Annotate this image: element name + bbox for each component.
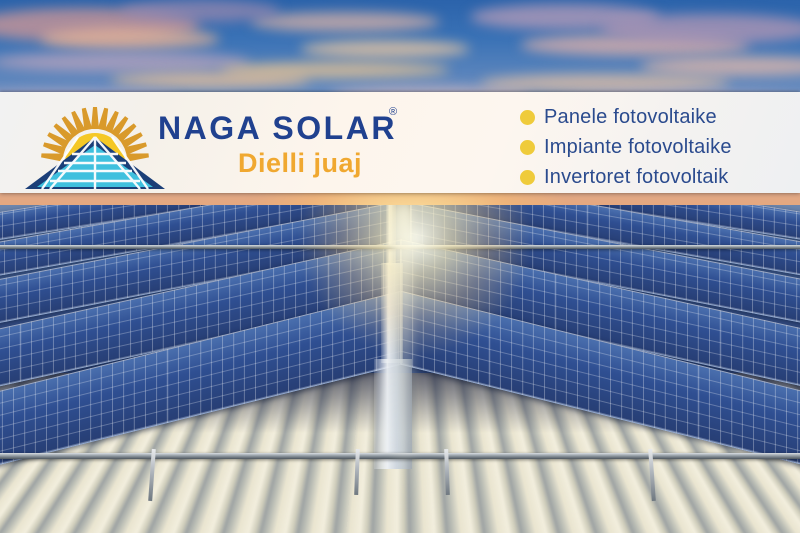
solar-panel-field [0, 205, 800, 533]
service-list: Panele fotovoltaike Impiante fotovoltaik… [520, 104, 732, 190]
bullet-dot-icon [520, 140, 535, 155]
list-item: Impiante fotovoltaike [520, 134, 732, 160]
naga-solar-sun-over-panels-logo [20, 97, 170, 193]
registered-trademark-icon: ® [389, 106, 397, 118]
list-item: Invertoret fotovoltaik [520, 164, 732, 190]
banner-image: NAGA SOLAR ® Dielli juaj Panele fotovolt… [0, 0, 800, 533]
list-item-label: Invertoret fotovoltaik [544, 166, 729, 189]
list-item-label: Impiante fotovoltaike [544, 136, 732, 159]
sun-ray-flare [395, 205, 411, 505]
list-item: Panele fotovoltaike [520, 104, 732, 130]
brand-name: NAGA SOLAR [158, 110, 397, 147]
brand-banner: NAGA SOLAR ® Dielli juaj Panele fotovolt… [0, 92, 800, 193]
brand-tagline: Dielli juaj [238, 148, 362, 179]
list-item-label: Panele fotovoltaike [544, 106, 717, 129]
bullet-dot-icon [520, 170, 535, 185]
bullet-dot-icon [520, 110, 535, 125]
brand-wordmark: NAGA SOLAR ® Dielli juaj [158, 98, 448, 190]
